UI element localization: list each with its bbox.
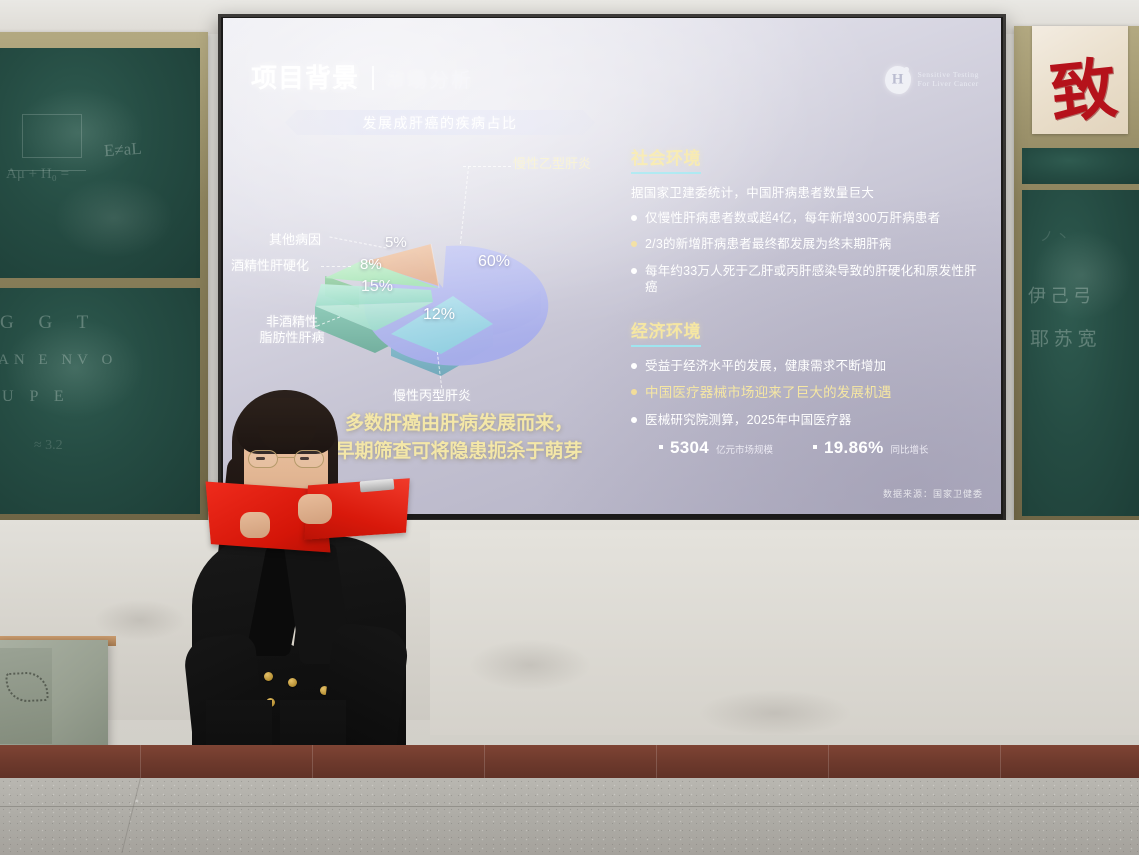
pie-label-hbv: 慢性乙型肝炎	[513, 156, 591, 172]
stat-unit: 亿元市场规模	[716, 442, 773, 456]
slide-data-source: 数据来源：国家卫健委	[883, 487, 983, 500]
classroom-presentation-photo: E≠aL Aμ + H₀ = G G T AN E NV O U P E ≈ 3…	[0, 0, 1139, 855]
stat-growth: 19.86% 同比增长	[813, 438, 928, 458]
bullet-dot-icon	[631, 363, 637, 369]
liver-logo-icon: H	[885, 66, 911, 94]
leader-line-alcoholic	[321, 266, 351, 267]
pie-value-nafld: 15%	[361, 278, 393, 296]
pie-label-nafld: 非酒精性脂肪性肝病	[257, 314, 327, 347]
bullet-text: 2/3的新增肝病患者最终都发展为终末期肝病	[645, 236, 892, 252]
stat-unit: 同比增长	[891, 442, 929, 456]
section-social: 社会环境 据国家卫建委统计，中国肝病患者数量巨大 仅慢性肝病患者数或超4亿，每年…	[631, 144, 979, 295]
section-economic: 经济环境 受益于经济水平的发展，健康需求不断增加 中国医疗器械市场迎来了巨大的发…	[631, 317, 979, 458]
bullet-dot-icon	[631, 215, 637, 221]
bullet-text: 每年约33万人死于乙肝或丙肝感染导致的肝硬化和原发性肝癌	[645, 263, 979, 296]
bullet-item: 2/3的新增肝病患者最终都发展为终末期肝病	[631, 236, 979, 252]
section-lede-social: 据国家卫建委统计，中国肝病患者数量巨大	[631, 182, 979, 201]
section-title-economic: 经济环境	[631, 317, 701, 347]
chart-title-text: 发展成肝癌的疾病占比	[363, 113, 518, 133]
chalkboard-left-surface: E≠aL Aμ + H₀ =	[0, 48, 200, 278]
chalk-note: 耶 苏 宽	[1030, 324, 1097, 351]
chalkboard-right-upper	[1022, 148, 1139, 184]
leader-line-hbv-h	[463, 166, 511, 167]
bullets-social: 仅慢性肝病患者数或超4亿，每年新增300万肝病患者 2/3的新增肝病患者最终都发…	[631, 210, 979, 295]
slide-header: 项目背景 市场分析	[251, 58, 473, 95]
section-title-social: 社会环境	[631, 144, 701, 174]
eyeglasses	[246, 450, 326, 468]
title-divider	[372, 66, 374, 90]
brand-logo: H Sensitive Testing For Liver Cancer	[885, 66, 979, 94]
economic-stats: 5304 亿元市场规模 19.86% 同比增长	[659, 438, 979, 458]
chart-title-banner: 发展成肝癌的疾病占比	[285, 110, 595, 135]
logo-dot	[904, 67, 909, 72]
bullet-item: 医械研究院测算，2025年中国医疗器	[631, 412, 979, 428]
stat-bullet-icon	[659, 445, 663, 449]
stat-bullet-icon	[813, 445, 817, 449]
bullet-text: 仅慢性肝病患者数或超4亿，每年新增300万肝病患者	[645, 210, 940, 226]
calligraphy-poster: 致	[1032, 26, 1128, 134]
bullet-item: 中国医疗器械市场迎来了巨大的发展机遇	[631, 384, 979, 402]
lens-right	[294, 450, 324, 468]
stat-market-size: 5304 亿元市场规模	[659, 438, 773, 458]
pie-label-other: 其他病因	[269, 232, 321, 248]
stat-value: 5304	[670, 438, 709, 458]
bullet-dot-icon	[631, 268, 637, 274]
bullets-economic: 受益于经济水平的发展，健康需求不断增加 中国医疗器械市场迎来了巨大的发展机遇 医…	[631, 358, 979, 428]
logo-letter: H	[892, 72, 904, 89]
bullet-item: 受益于经济水平的发展，健康需求不断增加	[631, 358, 979, 374]
bullet-text: 中国医疗器械市场迎来了巨大的发展机遇	[645, 384, 892, 402]
pie-label-alcoholic: 酒精性肝硬化	[231, 258, 309, 274]
pie-value-other: 5%	[385, 234, 407, 251]
bullet-dot-icon	[631, 417, 637, 423]
chalkboard-left-lower-surface: G G T AN E NV O U P E ≈ 3.2	[0, 288, 200, 514]
stat-value: 19.86%	[824, 438, 883, 458]
pie-value-hbv: 60%	[478, 253, 510, 271]
tile-baseboard	[0, 745, 1139, 781]
pie-value-alcoholic: 8%	[360, 256, 382, 273]
presenter-hand-right	[298, 494, 332, 524]
slide-right-column: 社会环境 据国家卫建委统计，中国肝病患者数量巨大 仅慢性肝病患者数或超4亿，每年…	[631, 144, 979, 458]
blazer-button	[288, 678, 297, 687]
blazer-button	[264, 672, 273, 681]
bullet-item: 每年约33万人死于乙肝或丙肝感染导致的肝硬化和原发性肝癌	[631, 263, 979, 296]
logo-wordmark: Sensitive Testing For Liver Cancer	[918, 71, 979, 89]
slide-title-main: 项目背景	[251, 58, 359, 95]
bullet-text: 受益于经济水平的发展，健康需求不断增加	[645, 358, 886, 374]
presenter-hair-fringe	[236, 398, 336, 454]
glasses-bridge	[278, 457, 294, 458]
chalkboard-right-surface: 伊 己 弓 耶 苏 宽 ノ 丶	[1022, 190, 1139, 516]
poster-character: 致	[1045, 35, 1121, 134]
bullet-text: 医械研究院测算，2025年中国医疗器	[645, 412, 851, 428]
logo-line-2: For Liver Cancer	[918, 80, 979, 89]
lens-left	[248, 450, 278, 468]
slide-title-sub: 市场分析	[385, 64, 473, 93]
bullet-item: 仅慢性肝病患者数或超4亿，每年新增300万肝病患者	[631, 210, 979, 226]
bullet-dot-icon	[631, 241, 637, 247]
pie-chart: 60% 12% 15% 8% 5% 慢性乙型肝炎 其他病因 酒精性肝硬化 非酒精…	[263, 138, 623, 408]
presenter-hand-left	[240, 512, 270, 538]
pie-chart-svg	[263, 138, 623, 408]
pie-value-hcv: 12%	[423, 306, 455, 324]
chalk-note: ≈ 3.2	[34, 438, 63, 454]
bullet-dot-icon	[631, 389, 637, 395]
